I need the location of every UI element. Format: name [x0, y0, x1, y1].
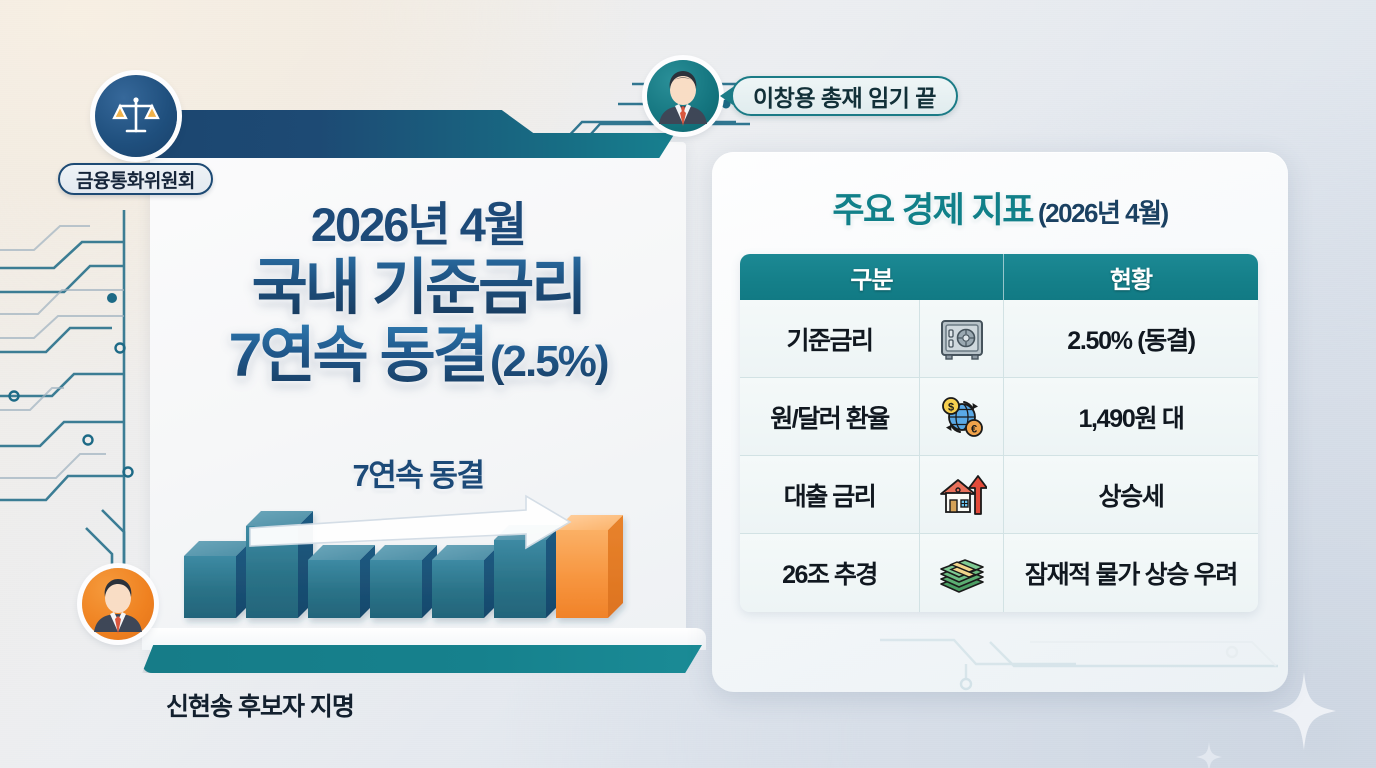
row-icon-cell	[920, 534, 1004, 612]
column-header-status: 현황	[1004, 254, 1258, 300]
house-rising-arrow-icon	[937, 470, 987, 520]
bottom-banner-bar	[142, 645, 702, 673]
row-icon-cell: $ €	[920, 378, 1004, 456]
svg-text:$: $	[947, 401, 953, 413]
row-value: 상승세	[1004, 456, 1258, 534]
row-value: 잠재적 물가 상승 우려	[1004, 534, 1258, 612]
row-label: 대출 금리	[740, 456, 920, 534]
headline-date: 2026년 4월	[150, 200, 686, 251]
governor-badge-label[interactable]: 이창용 총재 임기 끝	[731, 76, 958, 116]
governor-avatar-icon	[647, 60, 719, 132]
row-value: 2.50% (동결)	[1004, 300, 1258, 378]
panel-title-main: 주요 경제 지표	[832, 191, 1033, 230]
row-value: 1,490원 대	[1004, 378, 1258, 456]
chart-bar-side	[608, 515, 623, 618]
rate-freeze-bar-chart: 7연속 동결	[178, 450, 658, 630]
row-icon-cell	[920, 456, 1004, 534]
row-label: 26조 추경	[740, 534, 920, 612]
chart-bar	[184, 556, 236, 618]
table-row: 기준금리 2.50% (동결)	[740, 300, 1258, 378]
economic-indicators-table: 구분 현황 기준금리 2.50% (동결)원/달러 환율 $ € 1,490원 …	[740, 254, 1258, 612]
safe-vault-icon	[937, 314, 987, 364]
headline-block: 2026년 4월 국내 기준금리 7연속 동결 (2.5%)	[150, 200, 686, 389]
chart-bar	[556, 530, 608, 618]
panel-title: 주요 경제 지표(2026년 4월)	[712, 182, 1288, 233]
row-icon-cell	[920, 300, 1004, 378]
headline-line2: 국내 기준금리	[150, 253, 686, 321]
chart-bar	[308, 560, 360, 618]
column-header-category: 구분	[740, 254, 1004, 300]
chart-annotation: 7연속 동결	[178, 450, 658, 495]
headline-line3: 7연속 동결 (2.5%)	[150, 321, 686, 389]
top-banner-bar	[150, 110, 675, 158]
table-body: 기준금리 2.50% (동결)원/달러 환율 $ € 1,490원 대대출 금리…	[740, 300, 1258, 612]
svg-text:€: €	[970, 423, 976, 435]
headline-line3-percent: (2.5%)	[490, 337, 608, 386]
chart-bar	[370, 560, 422, 618]
committee-badge-label[interactable]: 금융통화위원회	[58, 163, 213, 195]
cash-stack-icon	[937, 548, 987, 598]
four-point-star-small-icon	[1196, 742, 1222, 768]
table-row: 원/달러 환율 $ € 1,490원 대	[740, 378, 1258, 456]
nominee-avatar-icon	[82, 568, 154, 640]
row-label: 원/달러 환율	[740, 378, 920, 456]
scales-of-justice-icon	[95, 75, 177, 157]
table-header-row: 구분 현황	[740, 254, 1258, 300]
currency-exchange-icon: $ €	[937, 392, 987, 442]
table-row: 26조 추경 잠재적 물가 상승 우려	[740, 534, 1258, 612]
chart-bar	[494, 540, 546, 618]
chart-bar	[432, 560, 484, 618]
headline-line3-main: 7연속 동결	[229, 321, 486, 389]
row-label: 기준금리	[740, 300, 920, 378]
nominee-badge-label[interactable]: 신현송 후보자 지명	[166, 687, 354, 723]
table-row: 대출 금리 상승세	[740, 456, 1258, 534]
panel-title-sub: (2026년 4월)	[1038, 198, 1168, 228]
